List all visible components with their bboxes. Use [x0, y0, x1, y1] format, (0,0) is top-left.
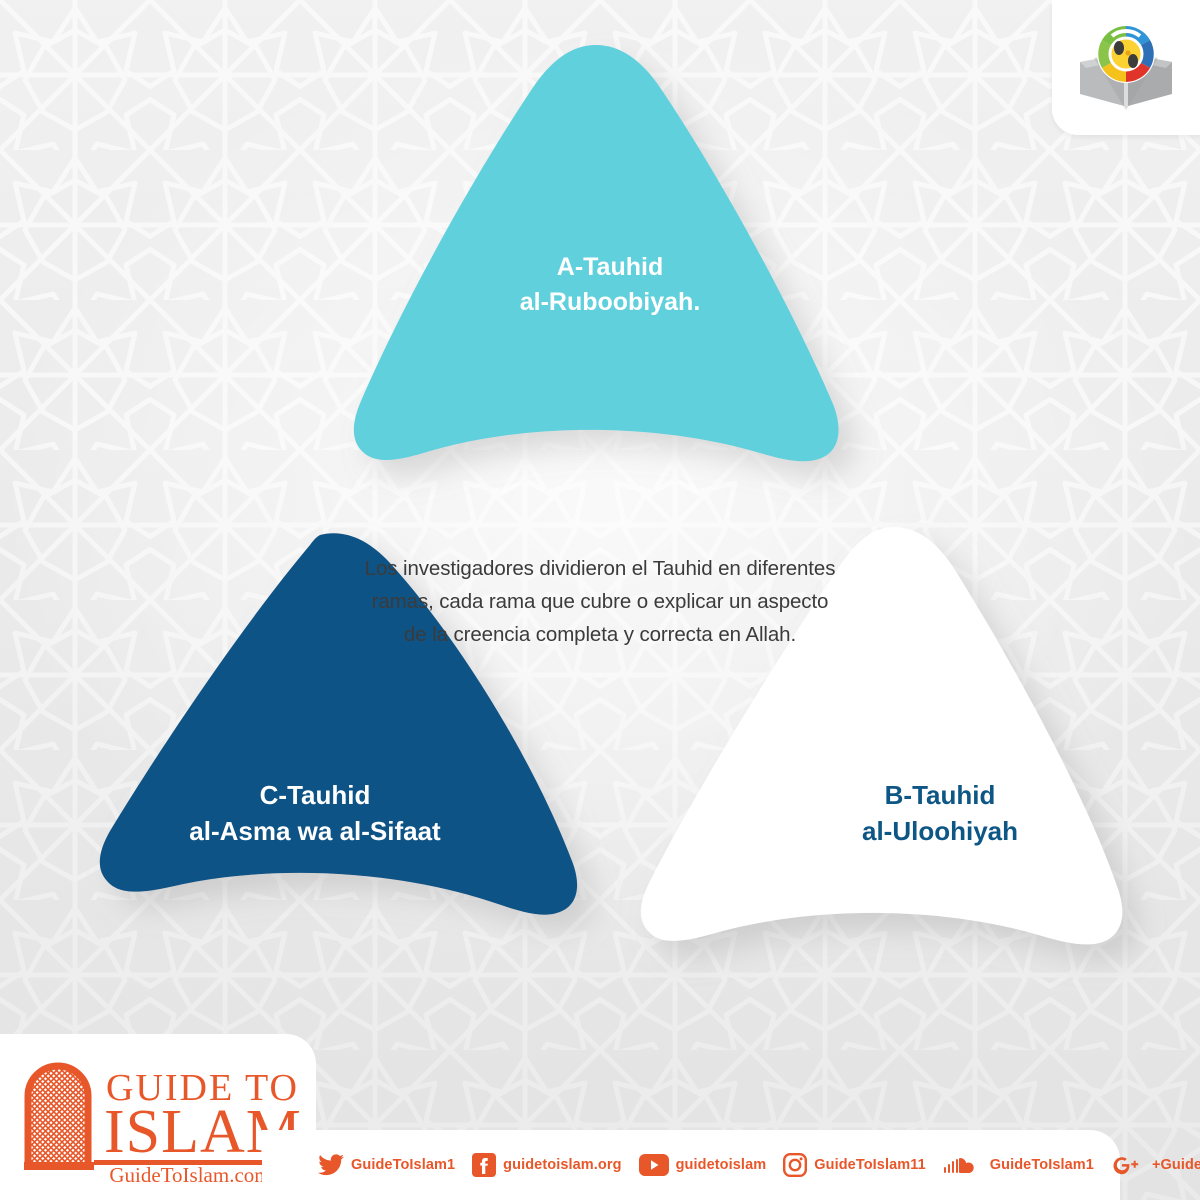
- googleplus-handle: +Guidetoislam: [1152, 1157, 1200, 1173]
- petal-b-title-line2: al-Uloohiyah: [760, 814, 1120, 850]
- soundcloud-handle: GuideToIslam1: [990, 1157, 1094, 1173]
- petal-b-label: B-Tauhid al-Uloohiyah: [760, 778, 1120, 850]
- youtube-icon: [639, 1154, 669, 1176]
- petal-a-label: A-Tauhid al-Ruboobiyah.: [400, 250, 820, 319]
- twitter-icon: [318, 1154, 344, 1176]
- instagram-icon: [783, 1153, 807, 1177]
- guide-to-islam-emblem-icon: [1074, 14, 1178, 118]
- social-bar: GuideToIslam1 guidetoislam.org guidetois…: [262, 1130, 1120, 1200]
- social-link-facebook[interactable]: guidetoislam.org: [472, 1153, 621, 1177]
- social-link-twitter[interactable]: GuideToIslam1: [318, 1154, 455, 1176]
- brand-website: GuideToIslam.com: [109, 1163, 270, 1184]
- facebook-handle: guidetoislam.org: [503, 1157, 621, 1173]
- youtube-handle: guidetoislam: [676, 1157, 767, 1173]
- petal-c-title-line2: al-Asma wa al-Sifaat: [90, 814, 540, 850]
- mihrab-arch-icon: [24, 1066, 94, 1170]
- social-link-instagram[interactable]: GuideToIslam11: [783, 1153, 926, 1177]
- social-link-googleplus[interactable]: +Guidetoislam: [1111, 1153, 1200, 1177]
- social-link-soundcloud[interactable]: GuideToIslam1: [943, 1155, 1094, 1175]
- instagram-handle: GuideToIslam11: [814, 1157, 926, 1173]
- petal-c-label: C-Tauhid al-Asma wa al-Sifaat: [90, 778, 540, 850]
- soundcloud-icon: [943, 1155, 983, 1175]
- petal-a-title-line2: al-Ruboobiyah.: [400, 285, 820, 320]
- infographic-canvas: A-Tauhid al-Ruboobiyah. C-Tauhid al-Asma…: [0, 0, 1200, 1200]
- social-link-youtube[interactable]: guidetoislam: [639, 1154, 767, 1176]
- center-description: Los investigadores dividieron el Tauhid …: [360, 552, 840, 651]
- googleplus-icon: [1111, 1153, 1145, 1177]
- facebook-icon: [472, 1153, 496, 1177]
- petal-c-title-line1: C-Tauhid: [90, 778, 540, 814]
- twitter-handle: GuideToIslam1: [351, 1157, 455, 1173]
- guide-to-islam-badge[interactable]: [1052, 0, 1200, 135]
- petal-b-title-line1: B-Tauhid: [760, 778, 1120, 814]
- petal-a-title-line1: A-Tauhid: [400, 250, 820, 285]
